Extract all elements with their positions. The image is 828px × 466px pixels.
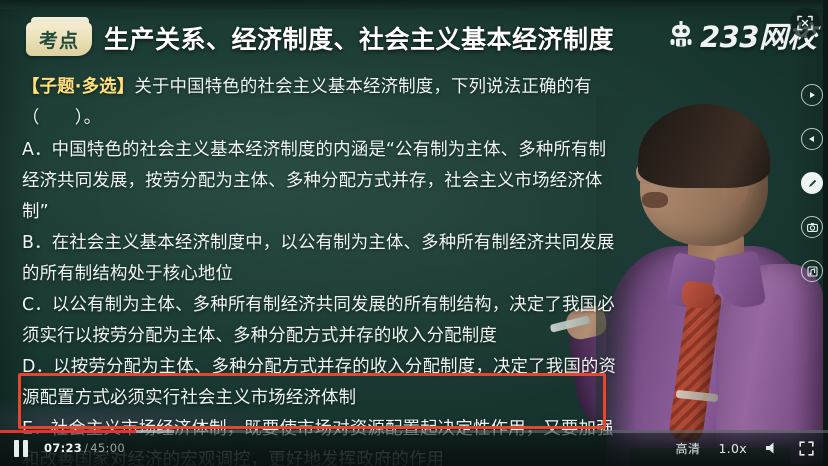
pause-icon[interactable] — [14, 440, 30, 457]
total-time: 45:00 — [90, 441, 125, 455]
robot-mascot-icon — [668, 21, 694, 49]
play-next-icon[interactable] — [801, 84, 823, 106]
playback-speed-button[interactable]: 1.0x — [719, 441, 747, 456]
option-c: C．以公有制为主体、多种所有制经济共同发展的所有制结构，决定了我国必须实行以按劳… — [22, 290, 622, 352]
exam-point-badge: 考点 — [26, 22, 92, 56]
time-separator: / — [84, 441, 88, 455]
video-frame: 考点 生产关系、经济制度、社会主义基本经济制度 233网校 — [0, 0, 828, 466]
note-clip-icon[interactable] — [801, 260, 823, 282]
rewind-icon[interactable] — [801, 128, 823, 150]
screenshot-icon[interactable] — [801, 216, 823, 238]
progress-played — [0, 430, 136, 433]
option-a: A．中国特色的社会主义基本经济制度的内涵是“公有制为主体、多种所有制经济共同发展… — [22, 135, 622, 228]
pen-annotate-icon[interactable] — [801, 172, 823, 194]
controls-right-group[interactable]: 高清 1.0x — [676, 440, 815, 457]
time-display: 07:23/45:00 — [44, 441, 125, 455]
instructor-mouth — [642, 192, 668, 208]
quality-button[interactable]: 高清 — [676, 440, 701, 457]
volume-on-icon[interactable] — [765, 441, 781, 455]
instructor-figure — [596, 96, 828, 466]
question-type-tag: 【子题·多选】 — [22, 77, 134, 97]
instructor-hair — [638, 104, 770, 188]
question-stem: 【子题·多选】关于中国特色的社会主义基本经济制度，下列说法正确的有（ ）。 — [22, 72, 622, 134]
player-controls[interactable]: 07:23/45:00 高清 1.0x — [0, 430, 828, 466]
tool-rail[interactable] — [801, 84, 823, 282]
crop-focus-icon[interactable] — [790, 8, 820, 38]
top-letterbox-strip — [0, 0, 828, 9]
fullscreen-icon[interactable] — [799, 441, 814, 456]
question-content: 【子题·多选】关于中国特色的社会主义基本经济制度，下列说法正确的有（ ）。 A．… — [22, 72, 622, 466]
page-title: 生产关系、经济制度、社会主义基本经济制度 — [104, 20, 614, 56]
progress-bar[interactable] — [0, 430, 828, 433]
exam-point-badge-label: 考点 — [39, 26, 79, 53]
option-b: B．在社会主义基本经济制度中，以公有制为主体、多种所有制经济共同发展的所有制结构… — [22, 228, 622, 290]
option-d: D．以按劳分配为主体、多种分配方式并存的收入分配制度，决定了我国的资源配置方式必… — [22, 352, 622, 414]
instructor-necktie-knot — [681, 280, 716, 309]
current-time: 07:23 — [44, 441, 82, 455]
video-player[interactable]: 考点 生产关系、经济制度、社会主义基本经济制度 233网校 — [0, 0, 828, 466]
